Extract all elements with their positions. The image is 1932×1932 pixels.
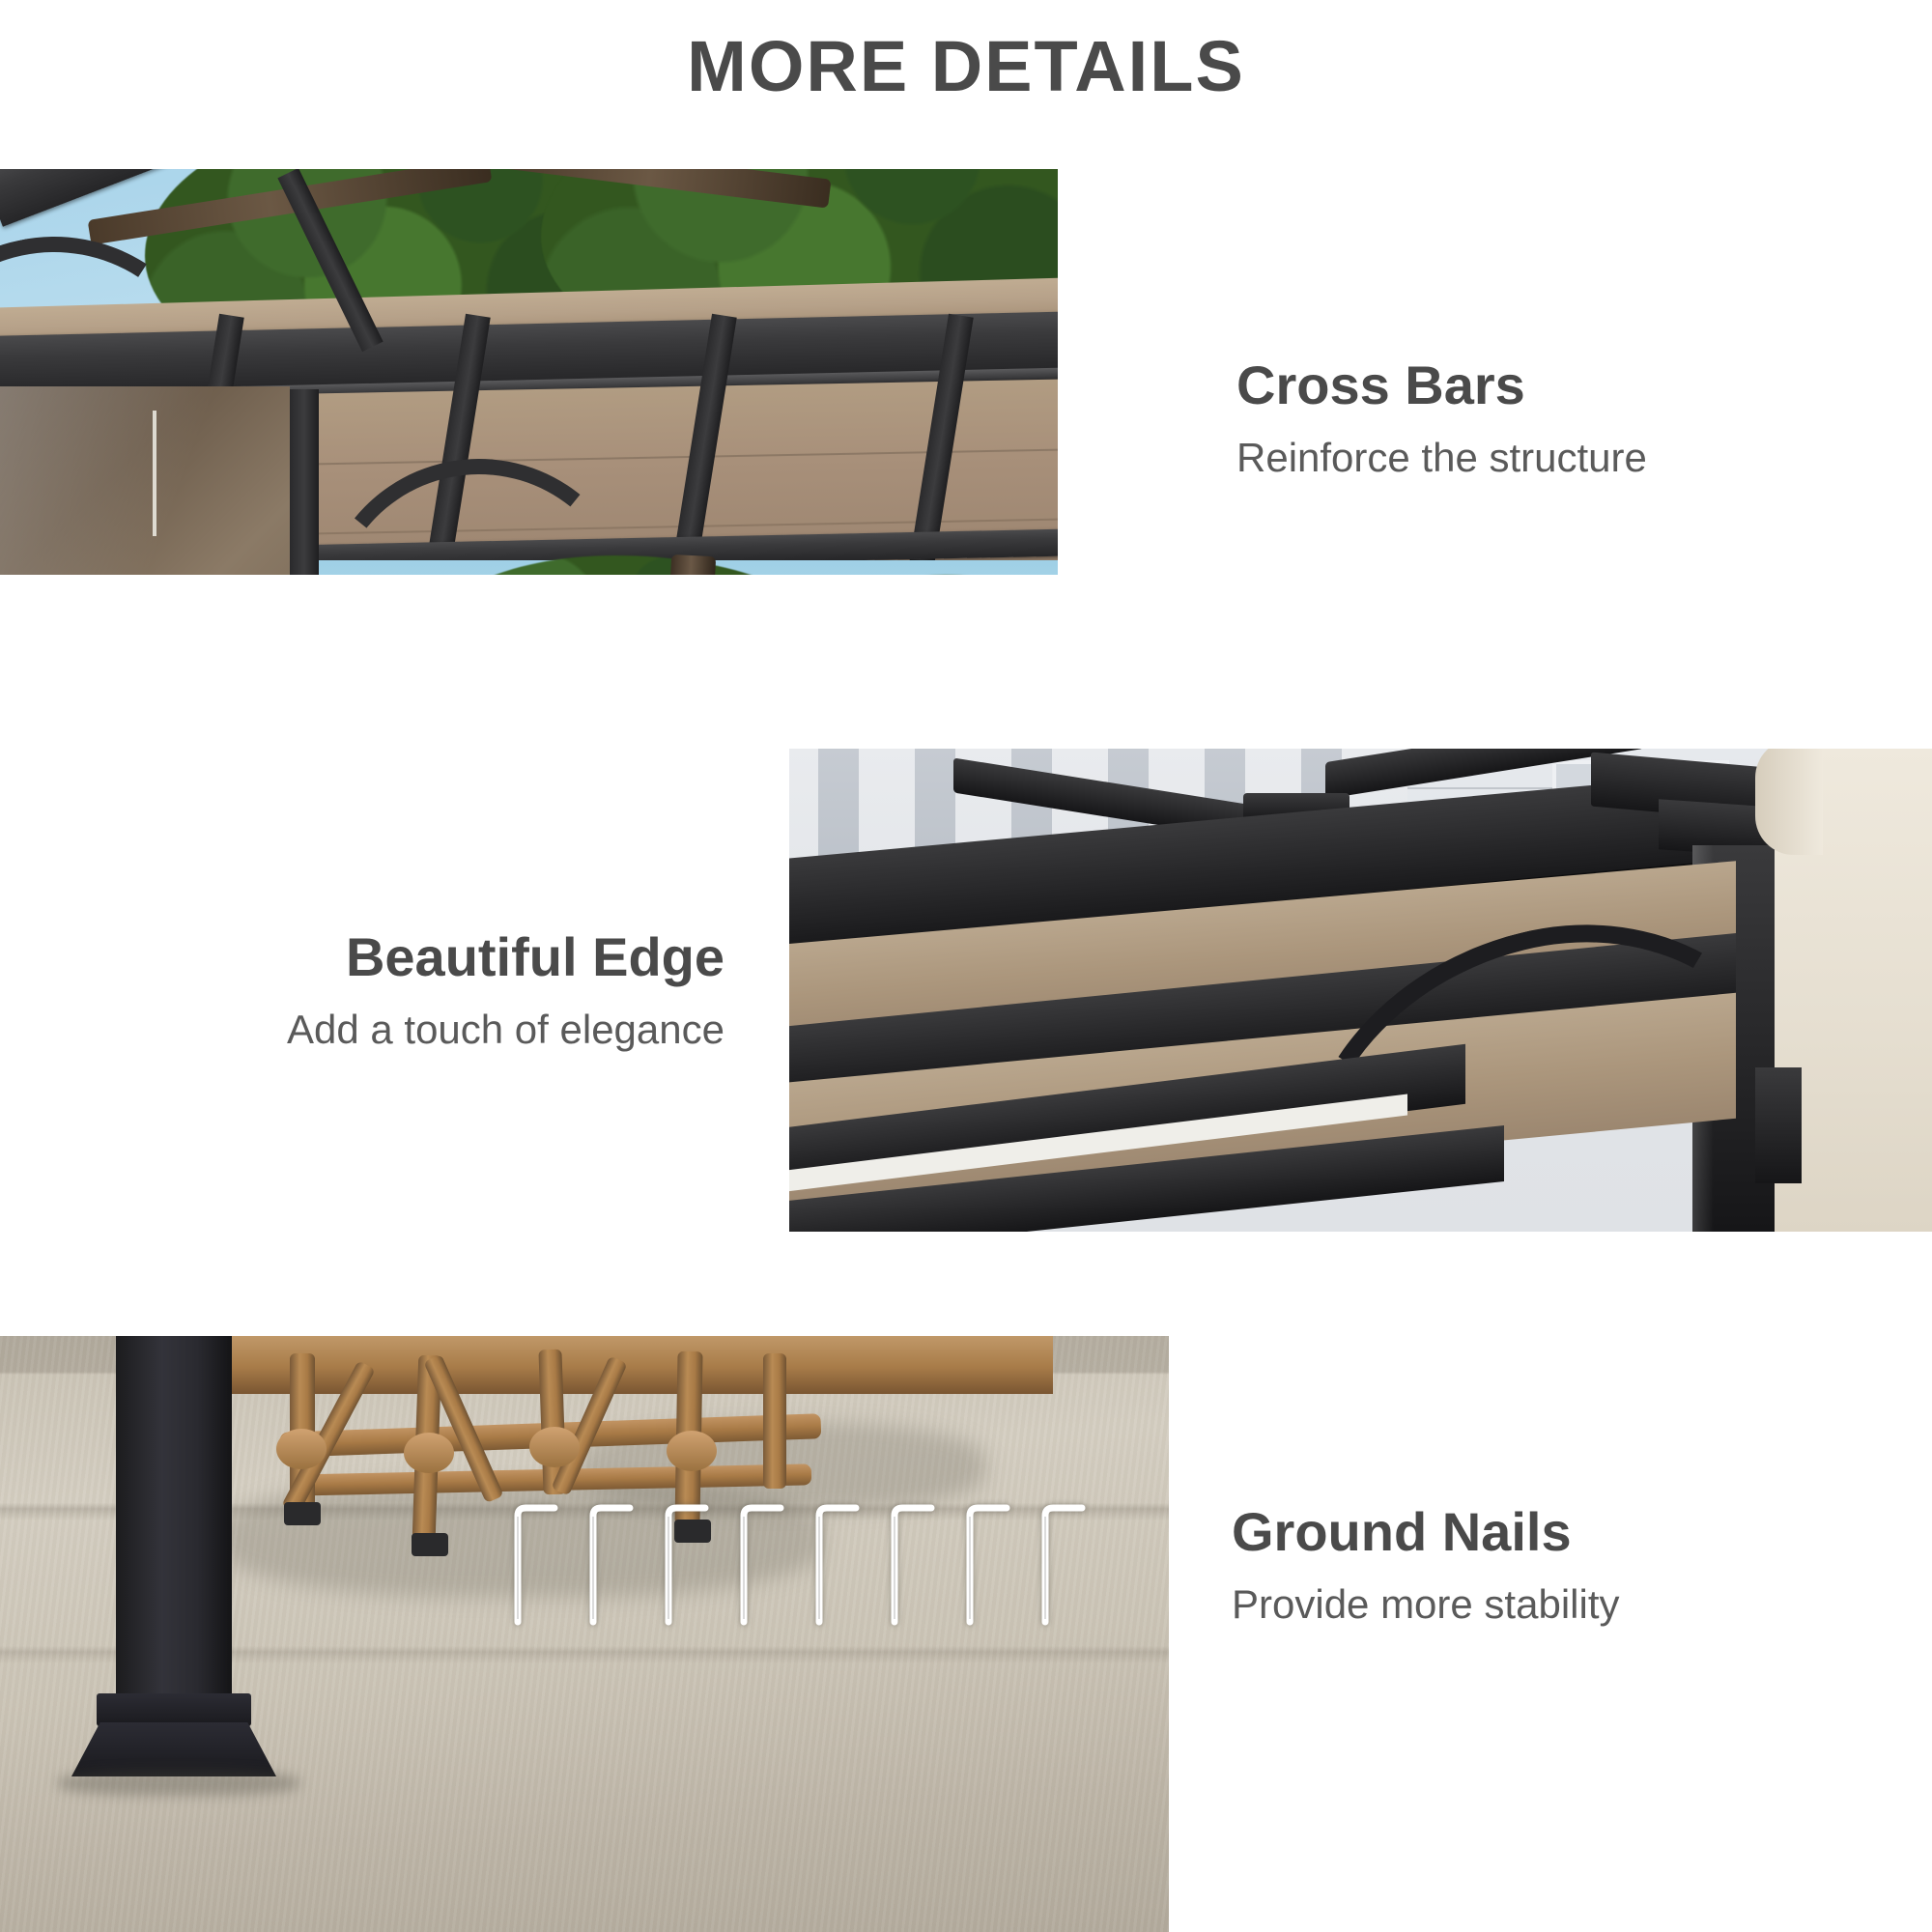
cross-bars-headline: Cross Bars <box>1236 355 1647 415</box>
beautiful-edge-caption: Beautiful Edge Add a touch of elegance <box>77 927 724 1055</box>
ground-nails-headline: Ground Nails <box>1232 1502 1619 1562</box>
beautiful-edge-photo <box>789 749 1932 1232</box>
cross-bars-subline: Reinforce the structure <box>1236 433 1647 484</box>
ground-nail <box>518 1508 554 1622</box>
ground-nail <box>895 1508 931 1622</box>
ground-nails-caption: Ground Nails Provide more stability <box>1232 1502 1619 1630</box>
ground-nail <box>1045 1508 1082 1622</box>
rattan-foot <box>284 1502 321 1525</box>
rattan-foot <box>412 1533 448 1556</box>
beautiful-edge-subline: Add a touch of elegance <box>77 1005 724 1056</box>
ground-nails-group <box>502 1337 1101 1932</box>
page-title: MORE DETAILS <box>0 25 1932 107</box>
ground-nails-subline: Provide more stability <box>1232 1579 1619 1631</box>
rattan-joint-wrap <box>276 1429 327 1469</box>
ground-nails-photo <box>0 1336 1169 1932</box>
ground-nail <box>593 1508 630 1622</box>
ground-nail <box>970 1508 1007 1622</box>
post-base-plate <box>71 1722 276 1776</box>
ground-nails-svg <box>502 1337 1101 1932</box>
ground-nail <box>744 1508 781 1622</box>
post-base-shadow <box>58 1771 299 1796</box>
cross-bars-caption: Cross Bars Reinforce the structure <box>1236 355 1647 483</box>
cross-bars-photo <box>0 169 1058 575</box>
ground-nail <box>668 1508 705 1622</box>
side-bracket <box>1755 1067 1802 1183</box>
cream-canopy-round <box>1755 749 1823 855</box>
corner-post <box>290 389 319 575</box>
beautiful-edge-headline: Beautiful Edge <box>77 927 724 987</box>
rattan-joint-wrap <box>404 1433 454 1473</box>
ground-nail <box>819 1508 856 1622</box>
pergola-post <box>116 1336 232 1713</box>
post-base-upper <box>97 1693 251 1726</box>
